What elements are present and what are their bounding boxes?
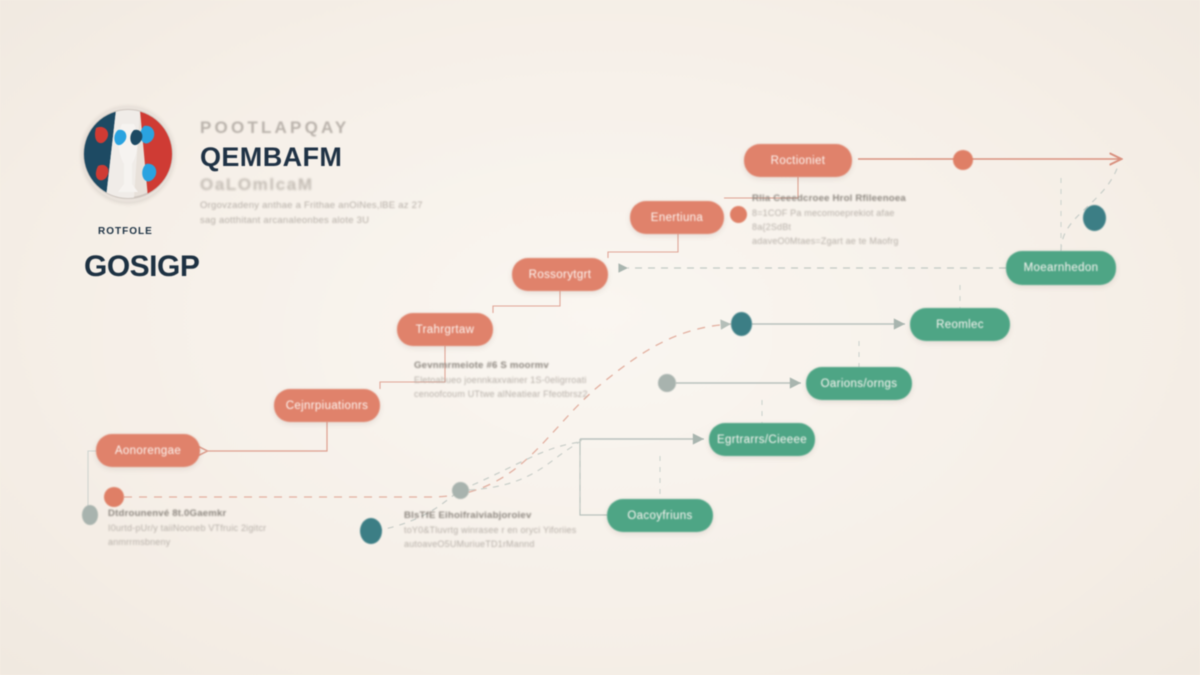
page-title: QEMBAFM — [200, 142, 450, 173]
euro-tournament-emblem-icon — [82, 106, 174, 202]
annotation-body: toY0&Tluvrtg winrasee r en oryci Yiforii… — [404, 523, 594, 551]
annotation-body: I0urtd-pUr/y taiiNooneb VTfruic 2igitcr … — [108, 521, 293, 549]
node-label: Enertiuna — [651, 212, 703, 224]
n-second-salmon[interactable]: Enertiuna — [630, 201, 724, 234]
anno-bottom-mid: BIsTfE EihoifraiviabjoroievtoY0&Tluvrtg … — [404, 510, 594, 551]
header-kicker: POOTLAPQAY — [200, 118, 450, 138]
dot-grey-mid — [658, 374, 676, 392]
node-label: Moearnhedon — [1024, 262, 1099, 274]
n-fifth-green[interactable]: Oacoyfriuns — [607, 499, 713, 532]
node-label: Egrtrarrs/Cieeee — [717, 434, 807, 446]
wordmark-main-text: GOSIGP — [84, 250, 204, 284]
wire-salmon-5-6 — [208, 422, 327, 451]
n-fourth-green[interactable]: Egrtrarrs/Cieeee — [709, 423, 815, 456]
wordmark: ROTFOLE GOSIGP — [84, 224, 202, 296]
annotation-title: BIsTfE Eihoifraiviabjoroiev — [404, 510, 594, 521]
anno-bottom-left: Dtdrounenvé 8t.0GaemkrI0urtd-pUr/y taiiN… — [108, 508, 293, 549]
wire-green5-up — [580, 439, 607, 515]
header-text-group: POOTLAPQAY QEMBAFM OaLOmlcaM Orgovzadeny… — [200, 118, 450, 228]
dot-grey-farleft — [82, 505, 98, 525]
n-second-green[interactable]: Reomlec — [910, 308, 1010, 341]
dot-teal-lower — [360, 518, 382, 544]
dot-teal-mid — [731, 312, 752, 336]
annotation-body: Eletoabueo joennkaxvainer 1S‑0eligrroati… — [414, 373, 594, 401]
wire-dashed-grey-sweep2 — [469, 439, 581, 490]
diagram-canvas: ROTFOLE GOSIGP POOTLAPQAY QEMBAFM OaLOml… — [0, 0, 1200, 675]
n-third-salmon[interactable]: Rossorytgrt — [512, 258, 608, 291]
dot-note-left — [104, 487, 124, 507]
wire-dashed-salmon-sweep — [124, 324, 731, 497]
node-label: Oacoyfriuns — [627, 510, 692, 522]
node-label: Reomlec — [936, 319, 984, 331]
node-label: Cejnrpiuationrs — [286, 400, 369, 412]
n-right-green[interactable]: Moearnhedon — [1006, 251, 1116, 285]
wire-salmon-2-3 — [608, 234, 678, 258]
brand-block: ROTFOLE GOSIGP POOTLAPQAY QEMBAFM OaLOml… — [82, 106, 442, 286]
annotation-title: Gevnmrmeiote #6 S moormv — [414, 360, 594, 371]
node-label: Trahrgrtaw — [416, 324, 475, 336]
anno-top: Rlia Ceeedcroee Hrol Rfileenoea8=1COF Pa… — [752, 193, 932, 248]
wire-salmon-3-4 — [493, 291, 560, 313]
dot-note-salmon — [730, 206, 747, 223]
node-label: Oarions/orngs — [821, 378, 898, 390]
annotation-body: 8=1COF Pa mecomoeprekiot afae 8a{2SdBt a… — [752, 206, 932, 248]
dot-grey-lower — [452, 482, 469, 499]
dot-top-salmon — [953, 150, 973, 170]
n-sixth-salmon[interactable]: Aonorengae — [96, 434, 200, 467]
n-third-green[interactable]: Oarions/orngs — [806, 367, 912, 400]
node-label: Rossorytgrt — [529, 269, 592, 281]
node-label: Aonorengae — [115, 445, 181, 457]
n-fourth-salmon[interactable]: Trahrgrtaw — [397, 313, 493, 346]
n-fifth-salmon[interactable]: Cejnrpiuationrs — [274, 389, 380, 422]
annotation-title: Dtdrounenvé 8t.0Gaemkr — [108, 508, 293, 519]
anno-middle: Gevnmrmeiote #6 S moormvEletoabueo joenn… — [414, 360, 594, 401]
wire-salmon-6-down — [88, 451, 96, 512]
annotation-title: Rlia Ceeedcroee Hrol Rfileenoea — [752, 193, 932, 204]
dot-teal-right — [1083, 205, 1106, 231]
header-body-text: Orgovzadeny anthae a Frithae anOiNes,lBE… — [200, 198, 438, 228]
n-top-salmon[interactable]: Roctioniet — [744, 144, 852, 177]
connector-layer — [0, 0, 1200, 675]
header-subtitle: OaLOmlcaM — [200, 175, 450, 195]
node-label: Roctioniet — [771, 155, 826, 167]
